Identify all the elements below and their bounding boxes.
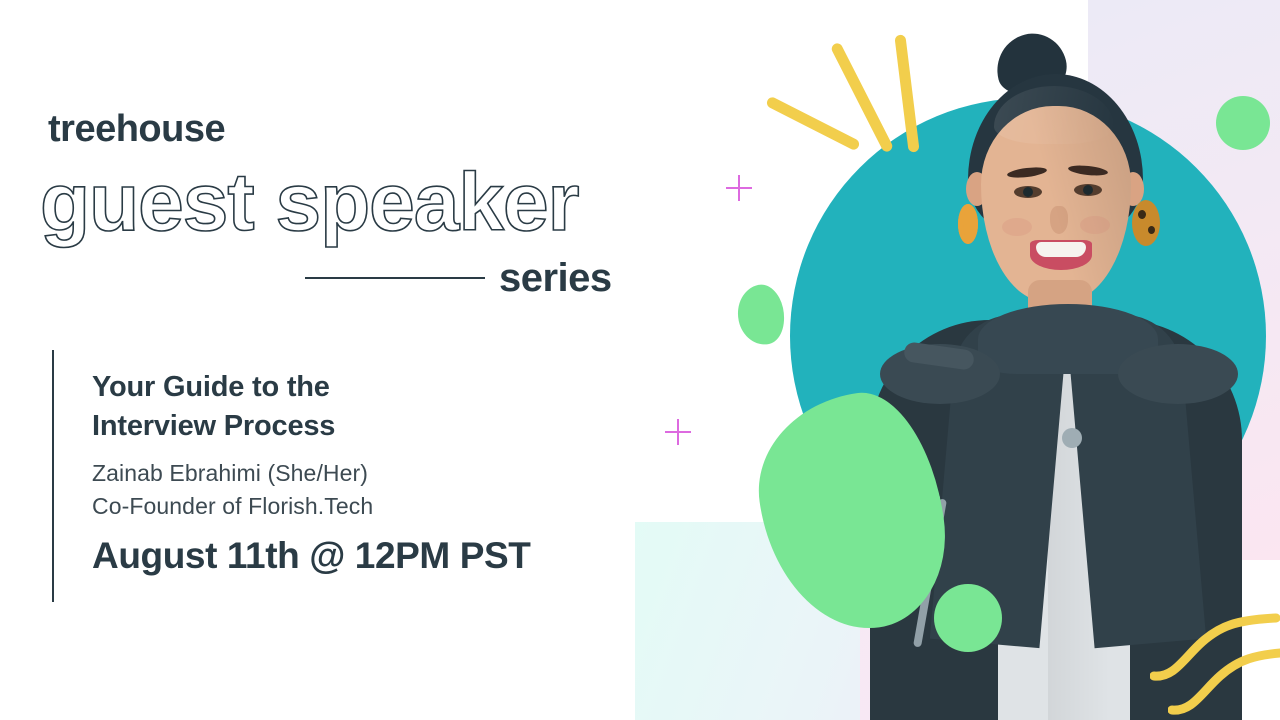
series-label: series [499,256,612,301]
headline-guest-speaker: guest speaker [40,160,579,246]
pupil-left [1023,187,1033,197]
series-divider-rule [305,277,485,279]
talk-title: Your Guide to the Interview Process [92,368,335,446]
slide-canvas: treehouse guest speaker series Your Guid… [0,0,1280,720]
green-circle-bottom-icon [934,584,1002,652]
brand-wordmark: treehouse [48,108,225,151]
pupil-right [1083,185,1093,195]
vertical-accent-rule [52,350,54,602]
earring-right [1132,200,1160,246]
jacket-shoulder-right [1118,344,1238,404]
speaker-name: Zainab Ebrahimi (She/Her) [92,460,368,487]
earring-left [958,204,978,244]
earring-pattern-spot [1138,210,1146,219]
teeth [1036,242,1086,257]
speaker-role: Co-Founder of Florish.Tech [92,493,373,520]
series-row: series [305,250,625,306]
cheek-right [1080,216,1110,234]
green-circle-top-right-icon [1216,96,1270,150]
earring-pattern-spot [1148,226,1155,234]
plus-mark-icon [726,175,752,201]
plus-mark-icon [665,419,691,445]
event-datetime: August 11th @ 12PM PST [92,535,530,577]
nose [1050,206,1068,234]
green-blob-small-icon [732,281,789,349]
yellow-squiggle-icon [1168,614,1280,720]
jacket-snap-stud [1062,428,1082,448]
cheek-left [1002,218,1032,236]
